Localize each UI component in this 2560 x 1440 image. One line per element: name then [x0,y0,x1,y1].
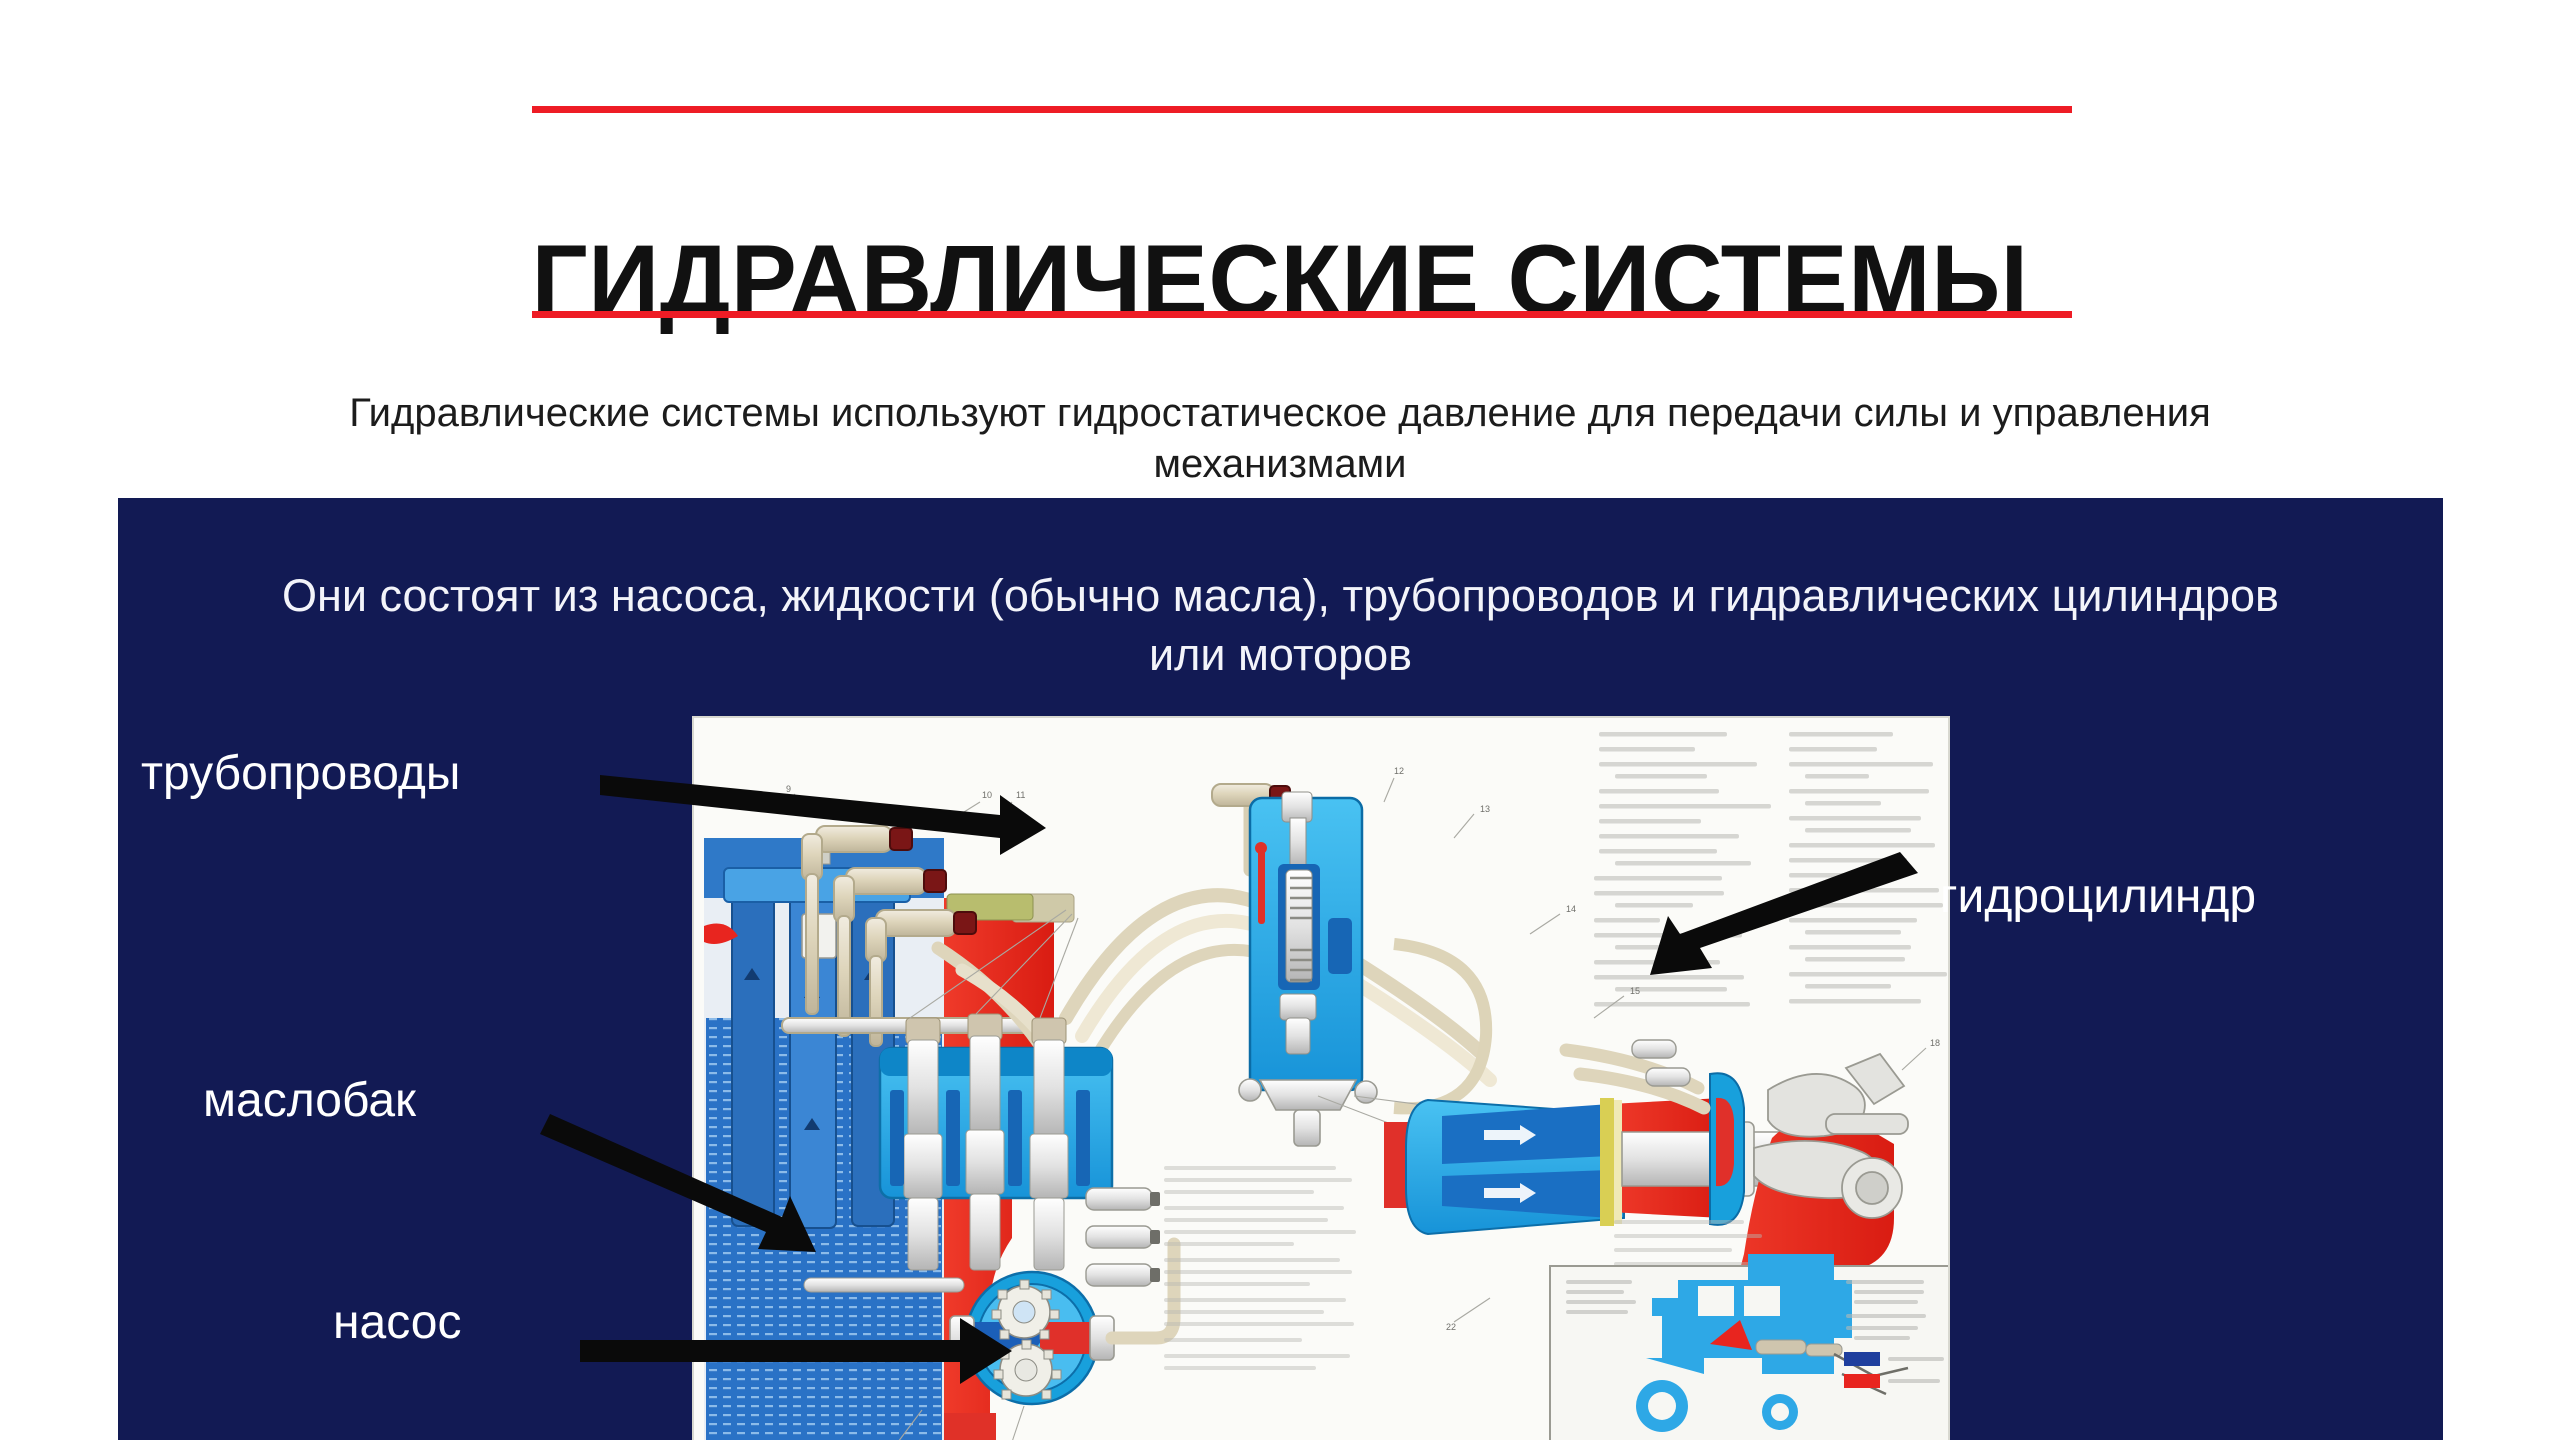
callout-label-cylinder: гидроцилиндр [1940,873,2256,921]
slide-root: ГИДРАВЛИЧЕСКИЕ СИСТЕМЫ Гидравлические си… [0,0,2560,1440]
diagram-tractor-inset [1550,1254,1950,1440]
svg-text:18: 18 [1930,1038,1940,1048]
svg-text:10: 10 [982,790,992,800]
subtitle-text: Гидравлические системы используют гидрос… [300,388,2260,490]
svg-text:11: 11 [1016,790,1025,800]
title-rule-top [532,106,2072,113]
title-rule-bottom [532,311,2072,318]
svg-text:12: 12 [1394,766,1404,776]
svg-text:15: 15 [1630,986,1640,996]
callout-label-pump: насос [333,1299,461,1347]
hydraulic-system-diagram: 9 10 11 12 13 14 15 1 22 18 [692,716,1950,1440]
callout-label-tank: маслобак [203,1077,416,1125]
svg-text:22: 22 [1446,1322,1456,1332]
page-title: ГИДРАВЛИЧЕСКИЕ СИСТЕМЫ [0,190,2560,370]
svg-text:13: 13 [1480,804,1490,814]
panel-heading: Они состоят из насоса, жидкости (обычно … [258,567,2303,684]
svg-text:14: 14 [1566,904,1576,914]
callout-label-pipes: трубопроводы [141,750,460,798]
svg-text:9: 9 [786,784,791,794]
